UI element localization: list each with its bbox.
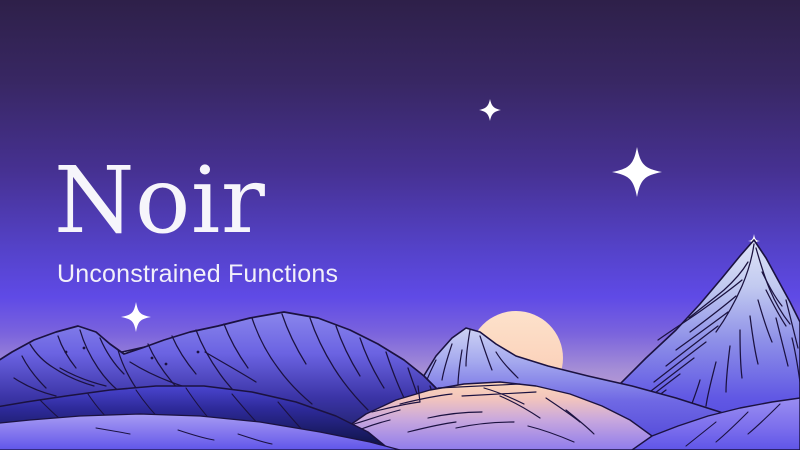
landscape-illustration (0, 0, 800, 450)
slide-canvas: Noir Unconstrained Functions (0, 0, 800, 450)
